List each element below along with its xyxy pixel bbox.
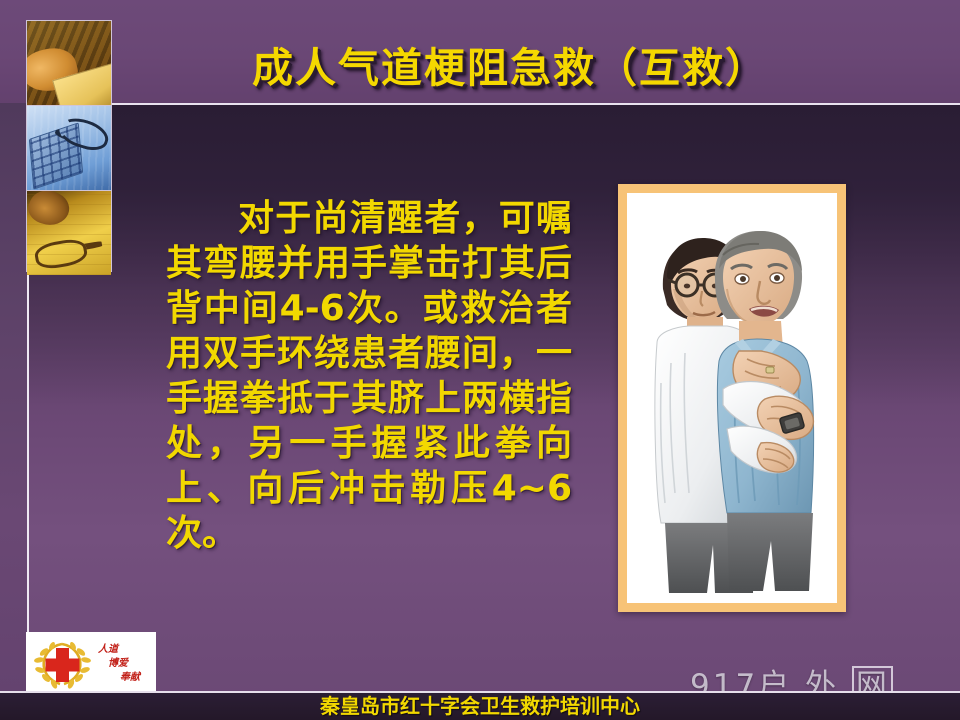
photo-hands-on-keyboard [27, 21, 111, 106]
footer-caption: 秦皇岛市红十字会卫生救护培训中心 [0, 690, 960, 719]
photo-calculator-glasses [27, 106, 111, 191]
body-paragraph: 对于尚清醒者，可嘱其弯腰并用手掌击打其后背中间4-6次。或救治者用双手环绕患者腰… [166, 196, 572, 556]
illustration-frame [618, 184, 846, 612]
page-title: 成人气道梗阻急救（互救） [180, 34, 840, 94]
heimlich-maneuver-illustration [627, 193, 837, 603]
logo-motto-line-1: 人道 [98, 643, 120, 655]
photo-glasses-notepad [27, 191, 111, 275]
logo-motto-line-3: 奉献 [120, 671, 142, 683]
header-divider-line [0, 103, 960, 105]
decorative-photo-stack [26, 20, 112, 272]
illustration-canvas [627, 193, 837, 603]
red-cross-logo-graphic: 人道 博爱 奉献 [26, 632, 156, 694]
logo-motto-line-2: 博爱 [108, 657, 129, 669]
left-margin-strip [0, 103, 27, 695]
red-cross-logo: 人道 博爱 奉献 [26, 632, 156, 694]
slide-canvas: 成人气道梗阻急救（互救） 对于尚清醒者，可嘱其弯腰并用手掌击打其后背中间4-6次… [0, 0, 960, 720]
